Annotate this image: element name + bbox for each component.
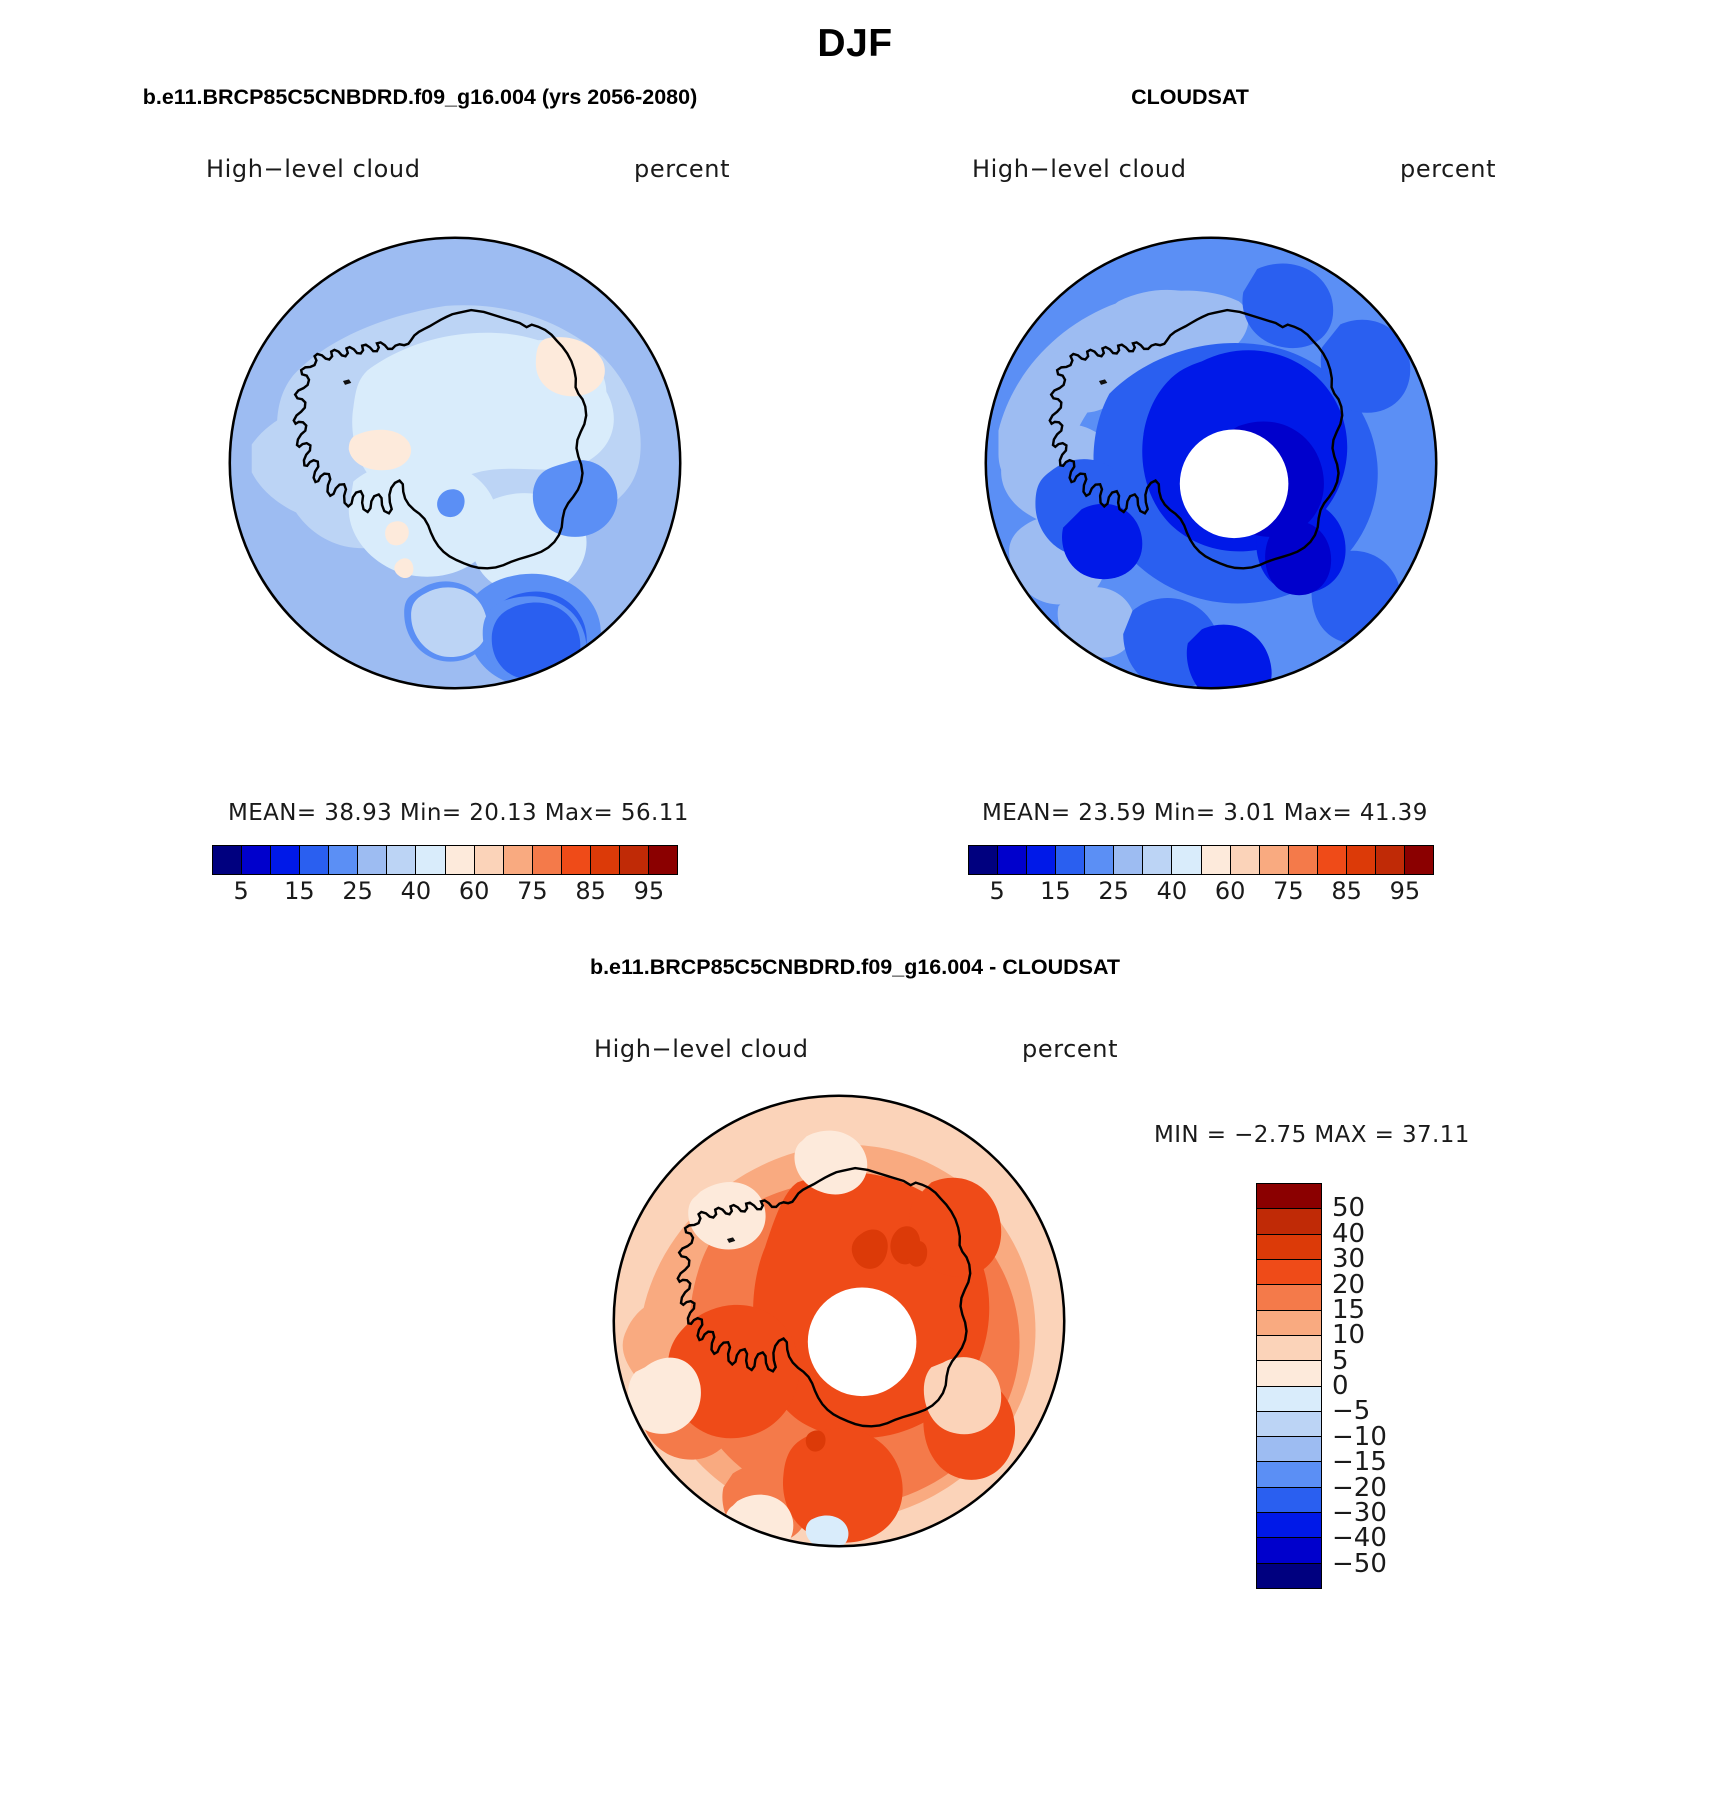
colorbar-cell-4 <box>329 846 358 874</box>
colorbar-obs-ticks: 515254060758595 <box>968 877 1434 911</box>
colorbar-diff[interactable]: 50403020151050−5−10−15−20−30−40−50 <box>1256 1183 1456 1589</box>
colorbar-cell-4 <box>1257 1285 1321 1310</box>
map-model-svg <box>224 232 686 694</box>
colorbar-tick-label: 5 <box>989 877 1004 905</box>
colorbar-cell-3 <box>1257 1260 1321 1285</box>
map-model <box>224 232 686 694</box>
map-diff-svg <box>608 1090 1070 1552</box>
colorbar-cell-2 <box>271 846 300 874</box>
colorbar-cell-0 <box>1257 1184 1321 1209</box>
colorbar-cell-1 <box>1257 1209 1321 1234</box>
stats-diff: MIN = −2.75 MAX = 37.11 <box>1154 1122 1470 1148</box>
colorbar-tick-label: 15 <box>284 877 315 905</box>
map-obs-svg <box>980 232 1442 694</box>
colorbar-cell-7 <box>1257 1361 1321 1386</box>
colorbar-cell-14 <box>1376 846 1405 874</box>
colorbar-cell-9 <box>1257 1412 1321 1437</box>
colorbar-cell-10 <box>1260 846 1289 874</box>
colorbar-cell-12 <box>1257 1488 1321 1513</box>
colorbar-cell-0 <box>213 846 242 874</box>
colorbar-cell-3 <box>300 846 329 874</box>
panel-title-diff: b.e11.BRCP85C5CNBDRD.f09_g16.004 - CLOUD… <box>0 955 1710 980</box>
colorbar-cell-11 <box>1257 1462 1321 1487</box>
colorbar-cell-9 <box>1231 846 1260 874</box>
colorbar-model-cells <box>212 845 678 875</box>
colorbar-cell-6 <box>1257 1336 1321 1361</box>
colorbar-cell-6 <box>1143 846 1172 874</box>
colorbar-cell-9 <box>475 846 504 874</box>
colorbar-cell-2 <box>1257 1235 1321 1260</box>
colorbar-cell-2 <box>1027 846 1056 874</box>
units-label-diff: percent <box>1022 1035 1118 1063</box>
colorbar-tick-label: 95 <box>1390 877 1421 905</box>
colorbar-cell-14 <box>620 846 649 874</box>
colorbar-model[interactable]: 515254060758595 <box>212 845 678 911</box>
colorbar-tick-label: 25 <box>342 877 373 905</box>
map-obs <box>980 232 1442 694</box>
colorbar-tick-label: 60 <box>1215 877 1246 905</box>
colorbar-cell-7 <box>1172 846 1201 874</box>
panel-title-obs: CLOUDSAT <box>840 85 1540 110</box>
colorbar-cell-11 <box>1289 846 1318 874</box>
units-label-model: percent <box>634 155 730 183</box>
colorbar-tick-label: 95 <box>634 877 665 905</box>
stats-obs: MEAN= 23.59 Min= 3.01 Max= 41.39 <box>982 800 1428 826</box>
colorbar-model-ticks: 515254060758595 <box>212 877 678 911</box>
map-diff <box>608 1090 1070 1552</box>
colorbar-obs[interactable]: 515254060758595 <box>968 845 1434 911</box>
panel-title-model: b.e11.BRCP85C5CNBDRD.f09_g16.004 (yrs 20… <box>0 85 840 110</box>
figure-canvas: DJF b.e11.BRCP85C5CNBDRD.f09_g16.004 (yr… <box>0 0 1710 1809</box>
colorbar-tick-label: 60 <box>459 877 490 905</box>
colorbar-cell-5 <box>358 846 387 874</box>
field-label-obs: High−level cloud <box>972 155 1187 183</box>
colorbar-cell-15 <box>1257 1564 1321 1588</box>
colorbar-cell-13 <box>1347 846 1376 874</box>
colorbar-cell-13 <box>591 846 620 874</box>
colorbar-cell-13 <box>1257 1513 1321 1538</box>
units-label-obs: percent <box>1400 155 1496 183</box>
colorbar-cell-14 <box>1257 1538 1321 1563</box>
colorbar-cell-8 <box>446 846 475 874</box>
colorbar-cell-12 <box>1318 846 1347 874</box>
colorbar-cell-3 <box>1056 846 1085 874</box>
colorbar-cell-8 <box>1202 846 1231 874</box>
colorbar-cell-1 <box>998 846 1027 874</box>
colorbar-diff-cells <box>1256 1183 1322 1589</box>
colorbar-tick-label: 85 <box>575 877 606 905</box>
colorbar-cell-0 <box>969 846 998 874</box>
field-label-diff: High−level cloud <box>594 1035 809 1063</box>
polar-data-hole-obs <box>1180 430 1289 539</box>
colorbar-cell-12 <box>562 846 591 874</box>
field-label-model: High−level cloud <box>206 155 421 183</box>
colorbar-cell-6 <box>387 846 416 874</box>
colorbar-cell-11 <box>533 846 562 874</box>
colorbar-tick-label: 5 <box>233 877 248 905</box>
colorbar-diff-ticks: 50403020151050−5−10−15−20−30−40−50 <box>1332 1183 1452 1589</box>
stats-model: MEAN= 38.93 Min= 20.13 Max= 56.11 <box>228 800 689 826</box>
colorbar-cell-8 <box>1257 1387 1321 1412</box>
colorbar-tick-label: 85 <box>1331 877 1362 905</box>
colorbar-cell-4 <box>1085 846 1114 874</box>
colorbar-tick-label: 75 <box>517 877 548 905</box>
colorbar-cell-15 <box>649 846 677 874</box>
colorbar-tick-label: 15 <box>1040 877 1071 905</box>
colorbar-obs-cells <box>968 845 1434 875</box>
colorbar-cell-1 <box>242 846 271 874</box>
colorbar-cell-5 <box>1114 846 1143 874</box>
colorbar-cell-10 <box>504 846 533 874</box>
colorbar-cell-5 <box>1257 1311 1321 1336</box>
season-title: DJF <box>0 22 1710 66</box>
colorbar-tick-label: 25 <box>1098 877 1129 905</box>
colorbar-cell-15 <box>1405 846 1433 874</box>
colorbar-tick-label: 75 <box>1273 877 1304 905</box>
colorbar-tick-label: 40 <box>401 877 432 905</box>
colorbar-tick-label: 40 <box>1157 877 1188 905</box>
polar-data-hole-diff <box>808 1288 917 1397</box>
colorbar-cell-10 <box>1257 1437 1321 1462</box>
colorbar-cell-7 <box>416 846 445 874</box>
colorbar-tick-label: −50 <box>1332 1549 1387 1579</box>
